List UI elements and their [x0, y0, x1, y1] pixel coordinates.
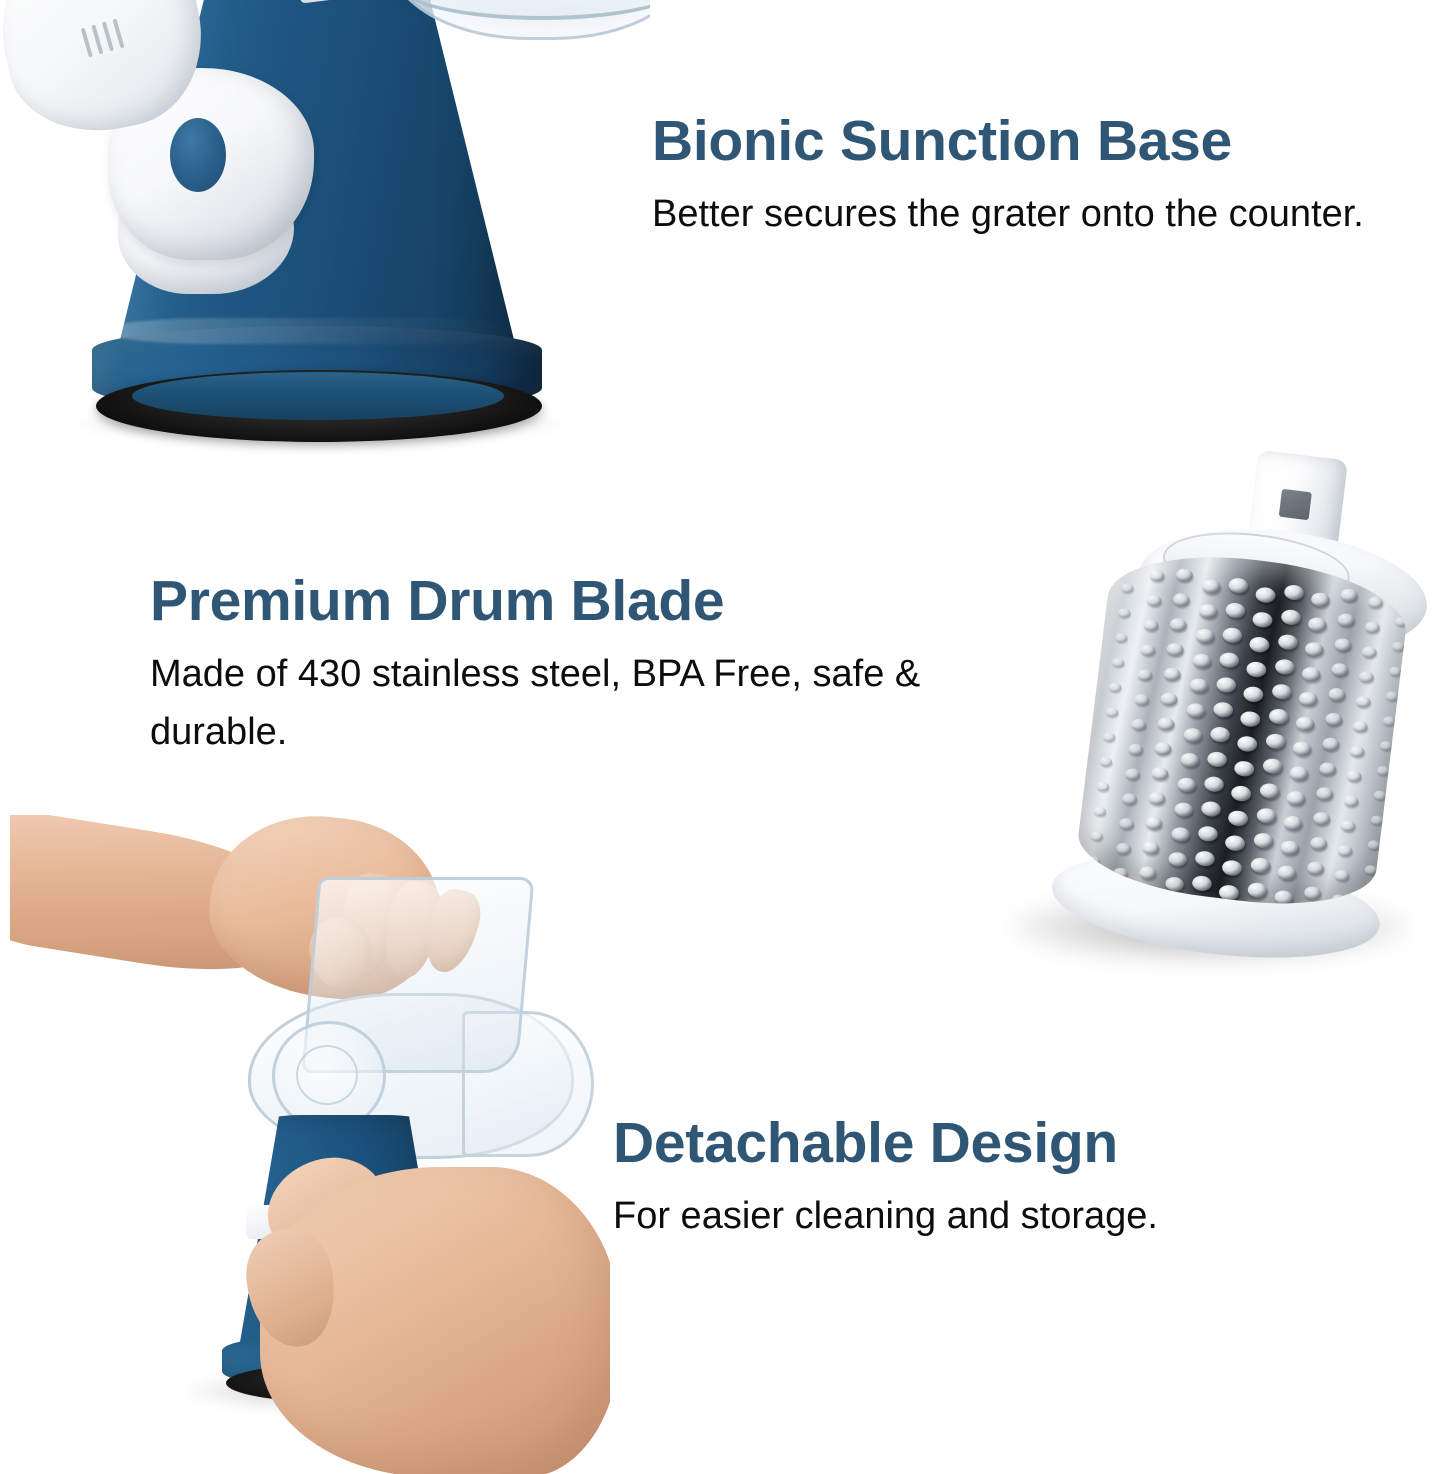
- blue-lever-dot: [170, 118, 226, 192]
- feature-title-detachable-design: Detachable Design: [613, 1114, 1373, 1172]
- feature-title-premium-drum-blade: Premium Drum Blade: [150, 572, 1010, 630]
- grating-holes: [1073, 543, 1412, 917]
- feature-description-bionic-suction-base: Better secures the grater onto the count…: [652, 186, 1412, 244]
- suction-base-photo: [0, 0, 650, 470]
- feature-title-bionic-suction-base: Bionic Sunction Base: [652, 112, 1412, 170]
- feature-description-premium-drum-blade: Made of 430 stainless steel, BPA Free, s…: [150, 646, 1010, 762]
- feature-block-detachable-design: Detachable Design For easier cleaning an…: [613, 1114, 1373, 1246]
- feature-description-detachable-design: For easier cleaning and storage.: [613, 1188, 1373, 1246]
- stainless-barrel: [1073, 543, 1412, 917]
- feature-block-premium-drum-blade: Premium Drum Blade Made of 430 stainless…: [150, 572, 1010, 762]
- drum-blade-photo: [990, 390, 1445, 1010]
- shaft-slot: [1279, 489, 1312, 520]
- clear-hopper-ring-inner: [296, 1045, 358, 1105]
- detachable-hands-photo: Geedel LOCK RELEASE: [10, 815, 610, 1474]
- suction-ring-inner: [132, 372, 504, 420]
- feature-block-bionic-suction-base: Bionic Sunction Base Better secures the …: [652, 112, 1412, 244]
- drum-assembly: [1021, 430, 1439, 970]
- skirt-highlight: [104, 318, 530, 344]
- product-infographic: Bionic Sunction Base Better secures the …: [0, 0, 1445, 1474]
